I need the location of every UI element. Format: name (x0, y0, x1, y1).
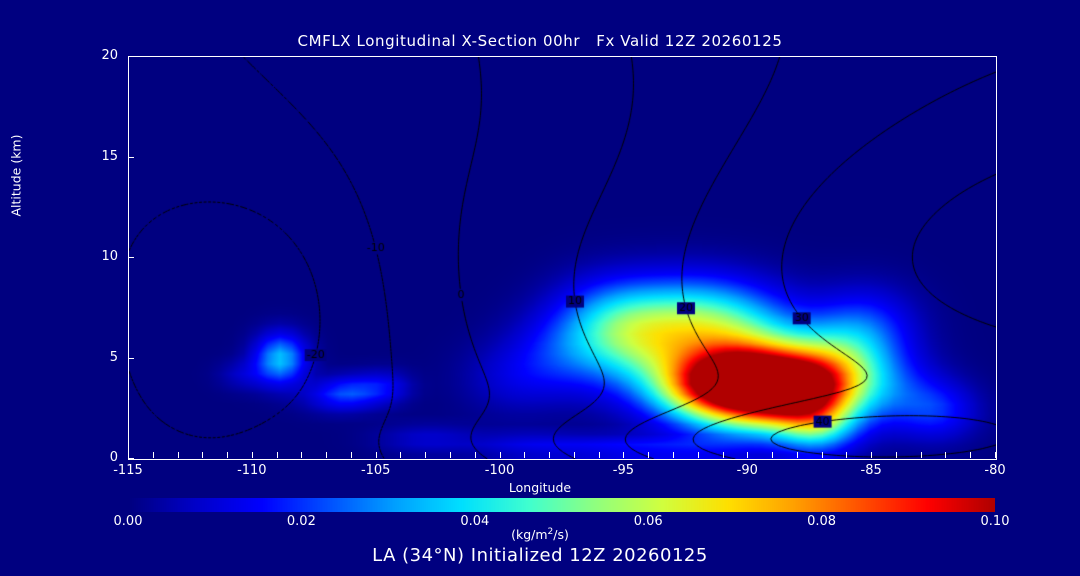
x-tick (301, 452, 302, 458)
y-tick-label: 10 (80, 249, 118, 264)
x-tick (227, 452, 228, 458)
x-tick-label: -95 (593, 463, 653, 478)
y-axis-title: Altitude (km) (9, 96, 24, 256)
x-tick (178, 452, 179, 458)
x-tick (673, 452, 674, 458)
x-tick (871, 452, 872, 458)
x-tick-label: -90 (717, 463, 777, 478)
x-tick (574, 452, 575, 458)
x-tick (921, 452, 922, 458)
x-tick-label: -115 (98, 463, 158, 478)
x-tick (995, 452, 996, 458)
colorbar-gradient (128, 498, 995, 512)
chart-title: CMFLX Longitudinal X-Section 00hr Fx Val… (0, 32, 1080, 50)
x-tick (772, 452, 773, 458)
colorbar-units-text: (kg/m2/s) (511, 527, 569, 542)
x-tick (425, 452, 426, 458)
y-tick-label: 0 (80, 450, 118, 465)
x-tick (698, 452, 699, 458)
x-tick (970, 452, 971, 458)
x-tick (400, 452, 401, 458)
colorbar-units-label: (kg/m2/s) (0, 527, 1080, 542)
x-tick-label: -80 (965, 463, 1025, 478)
x-tick (500, 452, 501, 458)
x-tick (822, 452, 823, 458)
x-tick (747, 452, 748, 458)
x-tick (376, 452, 377, 458)
x-tick (648, 452, 649, 458)
figure-root: CMFLX Longitudinal X-Section 00hr Fx Val… (0, 0, 1080, 576)
figure-caption: LA (34°N) Initialized 12Z 20260125 (0, 545, 1080, 566)
x-tick (524, 452, 525, 458)
x-tick (277, 452, 278, 458)
x-tick-label: -110 (222, 463, 282, 478)
colorbar (128, 498, 995, 512)
y-tick (128, 56, 134, 57)
x-tick (549, 452, 550, 458)
x-tick-label: -100 (470, 463, 530, 478)
y-tick (128, 458, 134, 459)
y-tick-label: 5 (80, 350, 118, 365)
x-tick (326, 452, 327, 458)
x-tick-label: -105 (346, 463, 406, 478)
x-axis-title: Longitude (0, 480, 1080, 495)
cmflx-field-heatmap (129, 57, 996, 459)
y-tick-label: 15 (80, 149, 118, 164)
x-tick (797, 452, 798, 458)
x-tick (896, 452, 897, 458)
x-tick (252, 452, 253, 458)
x-tick (945, 452, 946, 458)
x-tick (723, 452, 724, 458)
x-tick (202, 452, 203, 458)
y-tick (128, 358, 134, 359)
x-tick-label: -85 (841, 463, 901, 478)
x-tick (153, 452, 154, 458)
x-tick (475, 452, 476, 458)
x-tick (599, 452, 600, 458)
x-tick (623, 452, 624, 458)
y-tick-label: 20 (80, 48, 118, 63)
y-tick (128, 257, 134, 258)
x-tick (450, 452, 451, 458)
x-tick (846, 452, 847, 458)
x-tick (351, 452, 352, 458)
y-tick (128, 157, 134, 158)
plot-area (128, 56, 997, 460)
